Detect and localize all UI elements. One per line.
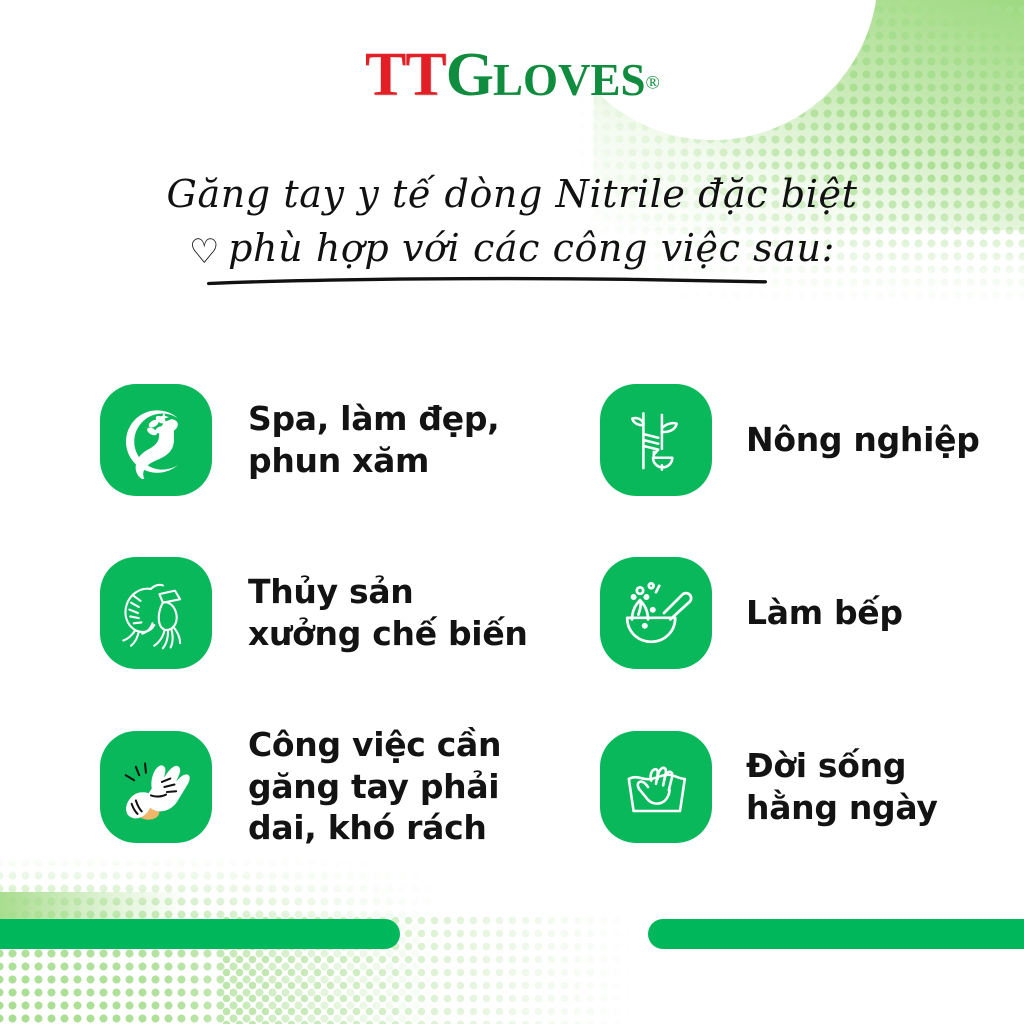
brand-logo: TTGLOVES®	[0, 44, 1024, 106]
headline-underline	[207, 276, 767, 286]
poster-canvas: TTGLOVES® Găng tay y tế dòng Nitrile đặc…	[0, 0, 1024, 1024]
benefit-item-daily-life[interactable]: Đời sống hằng ngày	[600, 699, 1024, 874]
badge-daily-life	[600, 731, 712, 843]
logo-text-tt: TT	[365, 41, 446, 109]
headline-line-1: Găng tay y tế dòng Nitrile đặc biệt	[0, 168, 1024, 222]
badge-durable-glove	[100, 731, 212, 843]
cooking-pan-icon	[616, 573, 696, 653]
logo-text-loves: LOVES	[493, 55, 646, 105]
spa-face-flower-icon	[117, 401, 195, 479]
benefit-item-seafood[interactable]: Thủy sản xưởng chế biến	[100, 527, 600, 699]
bottom-bar-right	[648, 919, 1024, 949]
heart-icon: ♡	[189, 232, 220, 272]
benefit-item-agriculture[interactable]: Nông nghiệp	[600, 352, 1024, 527]
benefits-grid: Spa, làm đẹp, phun xăm Nông nghiệp	[0, 352, 1024, 874]
benefit-label-cooking: Làm bếp	[746, 592, 903, 634]
benefit-label-daily-life: Đời sống hằng ngày	[746, 745, 938, 828]
benefit-label-agriculture: Nông nghiệp	[746, 419, 980, 461]
badge-agriculture	[600, 384, 712, 496]
benefit-item-durable-glove[interactable]: Công việc cần găng tay phải dai, khó rác…	[100, 699, 600, 874]
registered-mark-icon: ®	[646, 73, 659, 94]
benefit-label-durable-glove: Công việc cần găng tay phải dai, khó rác…	[248, 724, 501, 849]
agriculture-sapling-shovel-icon	[619, 403, 693, 477]
benefit-label-seafood: Thủy sản xưởng chế biến	[248, 571, 528, 654]
benefit-item-spa[interactable]: Spa, làm đẹp, phun xăm	[100, 352, 600, 527]
logo-text-g: G	[446, 41, 493, 109]
benefit-item-cooking[interactable]: Làm bếp	[600, 527, 1024, 699]
seafood-shrimp-squid-icon	[113, 570, 199, 656]
handwash-basin-icon	[616, 747, 696, 827]
badge-seafood	[100, 557, 212, 669]
badge-spa	[100, 384, 212, 496]
headline-line-2-wrap: ♡phù hợp với các công việc sau:	[189, 222, 835, 282]
headline-line-2: phù hợp với các công việc sau:	[228, 226, 835, 270]
badge-cooking	[600, 557, 712, 669]
benefit-label-spa: Spa, làm đẹp, phun xăm	[248, 398, 499, 481]
bottom-bar-left	[0, 919, 400, 949]
glove-hands-durable-icon	[114, 745, 198, 829]
page-title: Găng tay y tế dòng Nitrile đặc biệt ♡phù…	[0, 168, 1024, 282]
